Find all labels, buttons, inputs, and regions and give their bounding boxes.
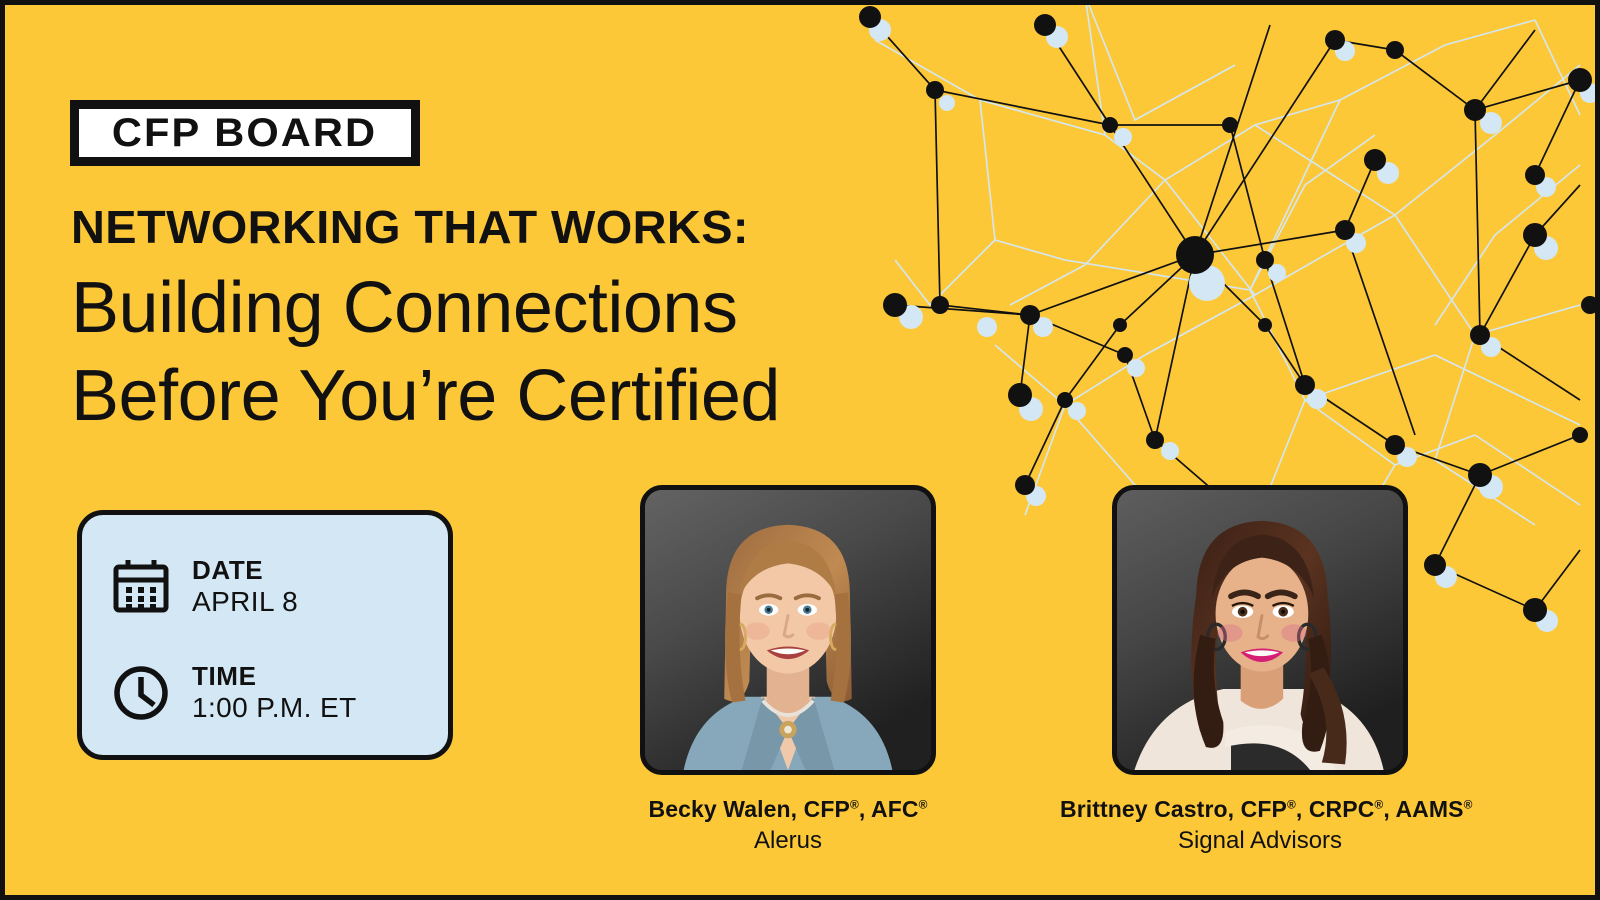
time-value: 1:00 P.M. ET: [192, 691, 357, 725]
speaker-card-1: Becky Walen, CFP®, AFC® Alerus: [588, 485, 988, 856]
speaker-2-reg-mark-3: ®: [1464, 797, 1473, 811]
speaker-2-name: Brittney Castro, CFP®, CRPC®, AAMS®: [1060, 796, 1460, 822]
speaker-1-name-main: Becky Walen, CFP: [649, 796, 850, 822]
logo-text: CFP BOARD: [112, 113, 377, 153]
promo-banner: CFP BOARD NETWORKING THAT WORKS: Buildin…: [0, 0, 1600, 900]
date-label: DATE: [192, 556, 298, 585]
event-details-card: DATE APRIL 8 TIME 1:00 P.M. ET: [77, 510, 453, 760]
date-value: APRIL 8: [192, 585, 298, 619]
speaker-2-name-main: Brittney Castro, CFP: [1060, 796, 1287, 822]
speaker-2-name-tail: , AAMS: [1383, 796, 1463, 822]
speaker-1-organization: Alerus: [588, 827, 988, 856]
headline-block: NETWORKING THAT WORKS: Building Connecti…: [71, 203, 971, 441]
speaker-2-headshot: [1117, 490, 1403, 770]
calendar-icon: [110, 556, 172, 618]
speaker-card-2: Brittney Castro, CFP®, CRPC®, AAMS® Sign…: [1060, 485, 1460, 856]
clock-icon: [110, 662, 172, 724]
speaker-1-name-mid: , AFC: [859, 796, 919, 822]
time-label: TIME: [192, 662, 357, 691]
speaker-1-photo-frame: [640, 485, 936, 775]
headline-line-2: Before You’re Certified: [71, 353, 971, 441]
date-row: DATE APRIL 8: [110, 539, 448, 635]
speaker-2-organization: Signal Advisors: [1060, 827, 1460, 856]
speaker-2-photo-frame: [1112, 485, 1408, 775]
speaker-1-name: Becky Walen, CFP®, AFC®: [588, 796, 988, 822]
speaker-2-reg-mark-2: ®: [1374, 797, 1383, 811]
speaker-1-reg-mark-2: ®: [919, 797, 928, 811]
headline-eyebrow: NETWORKING THAT WORKS:: [71, 203, 989, 251]
time-row: TIME 1:00 P.M. ET: [110, 645, 448, 741]
speaker-1-reg-mark-1: ®: [850, 797, 859, 811]
speaker-1-headshot: [645, 490, 931, 770]
headline-line-1: Building Connections: [71, 265, 971, 353]
speaker-2-reg-mark-1: ®: [1287, 797, 1296, 811]
speaker-2-name-mid: , CRPC: [1296, 796, 1375, 822]
cfp-board-logo: CFP BOARD: [70, 100, 420, 166]
